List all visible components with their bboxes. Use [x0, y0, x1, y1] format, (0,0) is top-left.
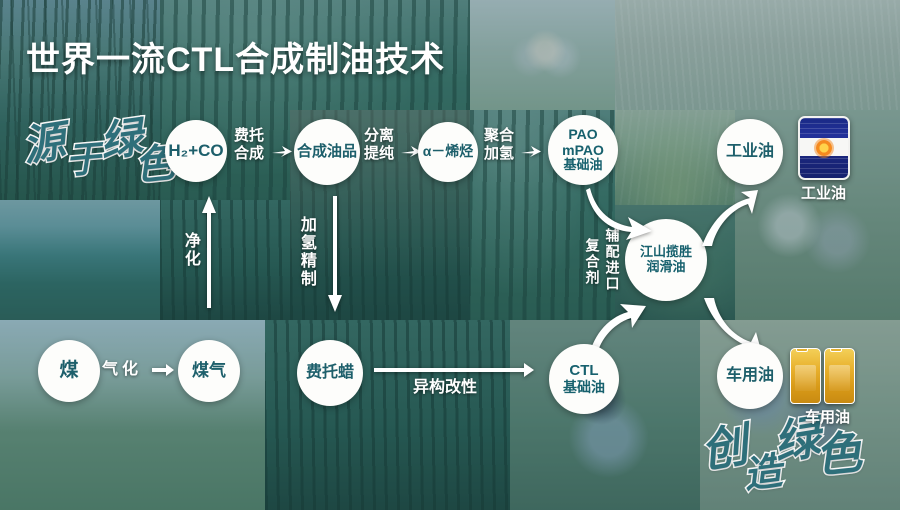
oil-jugs-icon — [790, 348, 856, 404]
node-label: 工业油 — [726, 143, 774, 161]
node-label: PAO — [568, 127, 597, 143]
node-label: 润滑油 — [646, 260, 685, 275]
arrow-up-purification — [201, 196, 217, 308]
node-coal-gas[interactable]: 煤气 — [178, 340, 240, 402]
node-label: 基础油 — [563, 158, 602, 173]
node-alpha-olefin[interactable]: α－烯烃 — [418, 122, 478, 182]
node-label: 煤 — [59, 360, 78, 381]
node-label: 费托蜡 — [306, 364, 354, 382]
node-syn-oil[interactable]: 合成油品 — [294, 119, 360, 185]
connector-label-isomerization: 异构改性 — [413, 379, 477, 398]
node-label: α－烯烃 — [423, 144, 474, 160]
node-label: 合成油品 — [297, 144, 357, 161]
connector-label-purification: 净化 — [180, 232, 199, 268]
node-label: 基础油 — [563, 380, 605, 396]
connector-label-additive-2: 复合剂 — [584, 238, 601, 286]
node-coal[interactable]: 煤 — [38, 340, 100, 402]
photo-tile-lake-left — [0, 200, 160, 320]
arrow-right-ft — [272, 144, 292, 158]
infographic-canvas: 世界一流CTL合成制油技术 源于绿色 创造绿色 H₂+CO 费托 合成 合成油品… — [0, 0, 900, 510]
connector-label-line: 提纯 — [364, 145, 394, 163]
calligraphy-char: 于 — [63, 129, 103, 184]
node-label: 车用油 — [726, 367, 774, 385]
calligraphy-source-green: 源于绿色 — [22, 108, 172, 169]
node-label: 江山揽胜 — [640, 245, 692, 260]
product-auto-oil — [790, 348, 856, 404]
arrow-right-gasification — [152, 363, 174, 377]
photo-tile-family-outdoor — [470, 0, 615, 110]
arrow-right-isomerization — [374, 363, 534, 377]
node-auto-oil[interactable]: 车用油 — [717, 343, 783, 409]
connector-label-line: 分离 — [364, 127, 394, 145]
product-label-auto-oil: 车用油 — [805, 406, 850, 427]
arrow-down-hydrorefining — [327, 196, 343, 312]
arrow-curved-pao-to-lubricant — [586, 186, 656, 242]
connector-label-line: 加氢 — [484, 145, 514, 163]
node-label: H₂+CO — [168, 141, 223, 160]
node-industrial-oil[interactable]: 工业油 — [717, 119, 783, 185]
connector-label-gasification: 气化 — [102, 361, 142, 380]
node-label: 煤气 — [192, 361, 226, 380]
connector-label-polymerization: 聚合 加氢 — [484, 127, 514, 162]
connector-label-separation: 分离 提纯 — [364, 127, 394, 162]
connector-label-line: 费托 — [234, 127, 264, 145]
photo-tile-forest-bottom-mid — [265, 320, 510, 510]
connector-label-line: 合成 — [234, 145, 264, 163]
connector-label-line: 聚合 — [484, 127, 514, 145]
product-industrial-oil — [798, 116, 850, 180]
oil-drum-icon — [798, 116, 850, 180]
node-label: CTL — [569, 363, 598, 380]
connector-label-ft-synthesis: 费托 合成 — [234, 127, 264, 162]
page-title: 世界一流CTL合成制油技术 — [26, 32, 445, 81]
calligraphy-char: 源 — [18, 107, 69, 174]
product-label-industrial-oil: 工业油 — [801, 182, 846, 203]
photo-tile-field-top-right — [615, 0, 900, 110]
node-pao-base-oil[interactable]: PAO mPAO 基础油 — [548, 115, 618, 185]
connector-label-hydrorefining: 加氢精制 — [296, 216, 315, 288]
node-h2co[interactable]: H₂+CO — [165, 120, 227, 182]
node-label: mPAO — [562, 143, 604, 159]
arrow-right-polymerization — [521, 144, 541, 158]
arrow-lubricant-to-industrial — [700, 190, 760, 248]
node-ft-wax[interactable]: 费托蜡 — [297, 340, 363, 406]
node-ctl-base-oil[interactable]: CTL 基础油 — [549, 344, 619, 414]
